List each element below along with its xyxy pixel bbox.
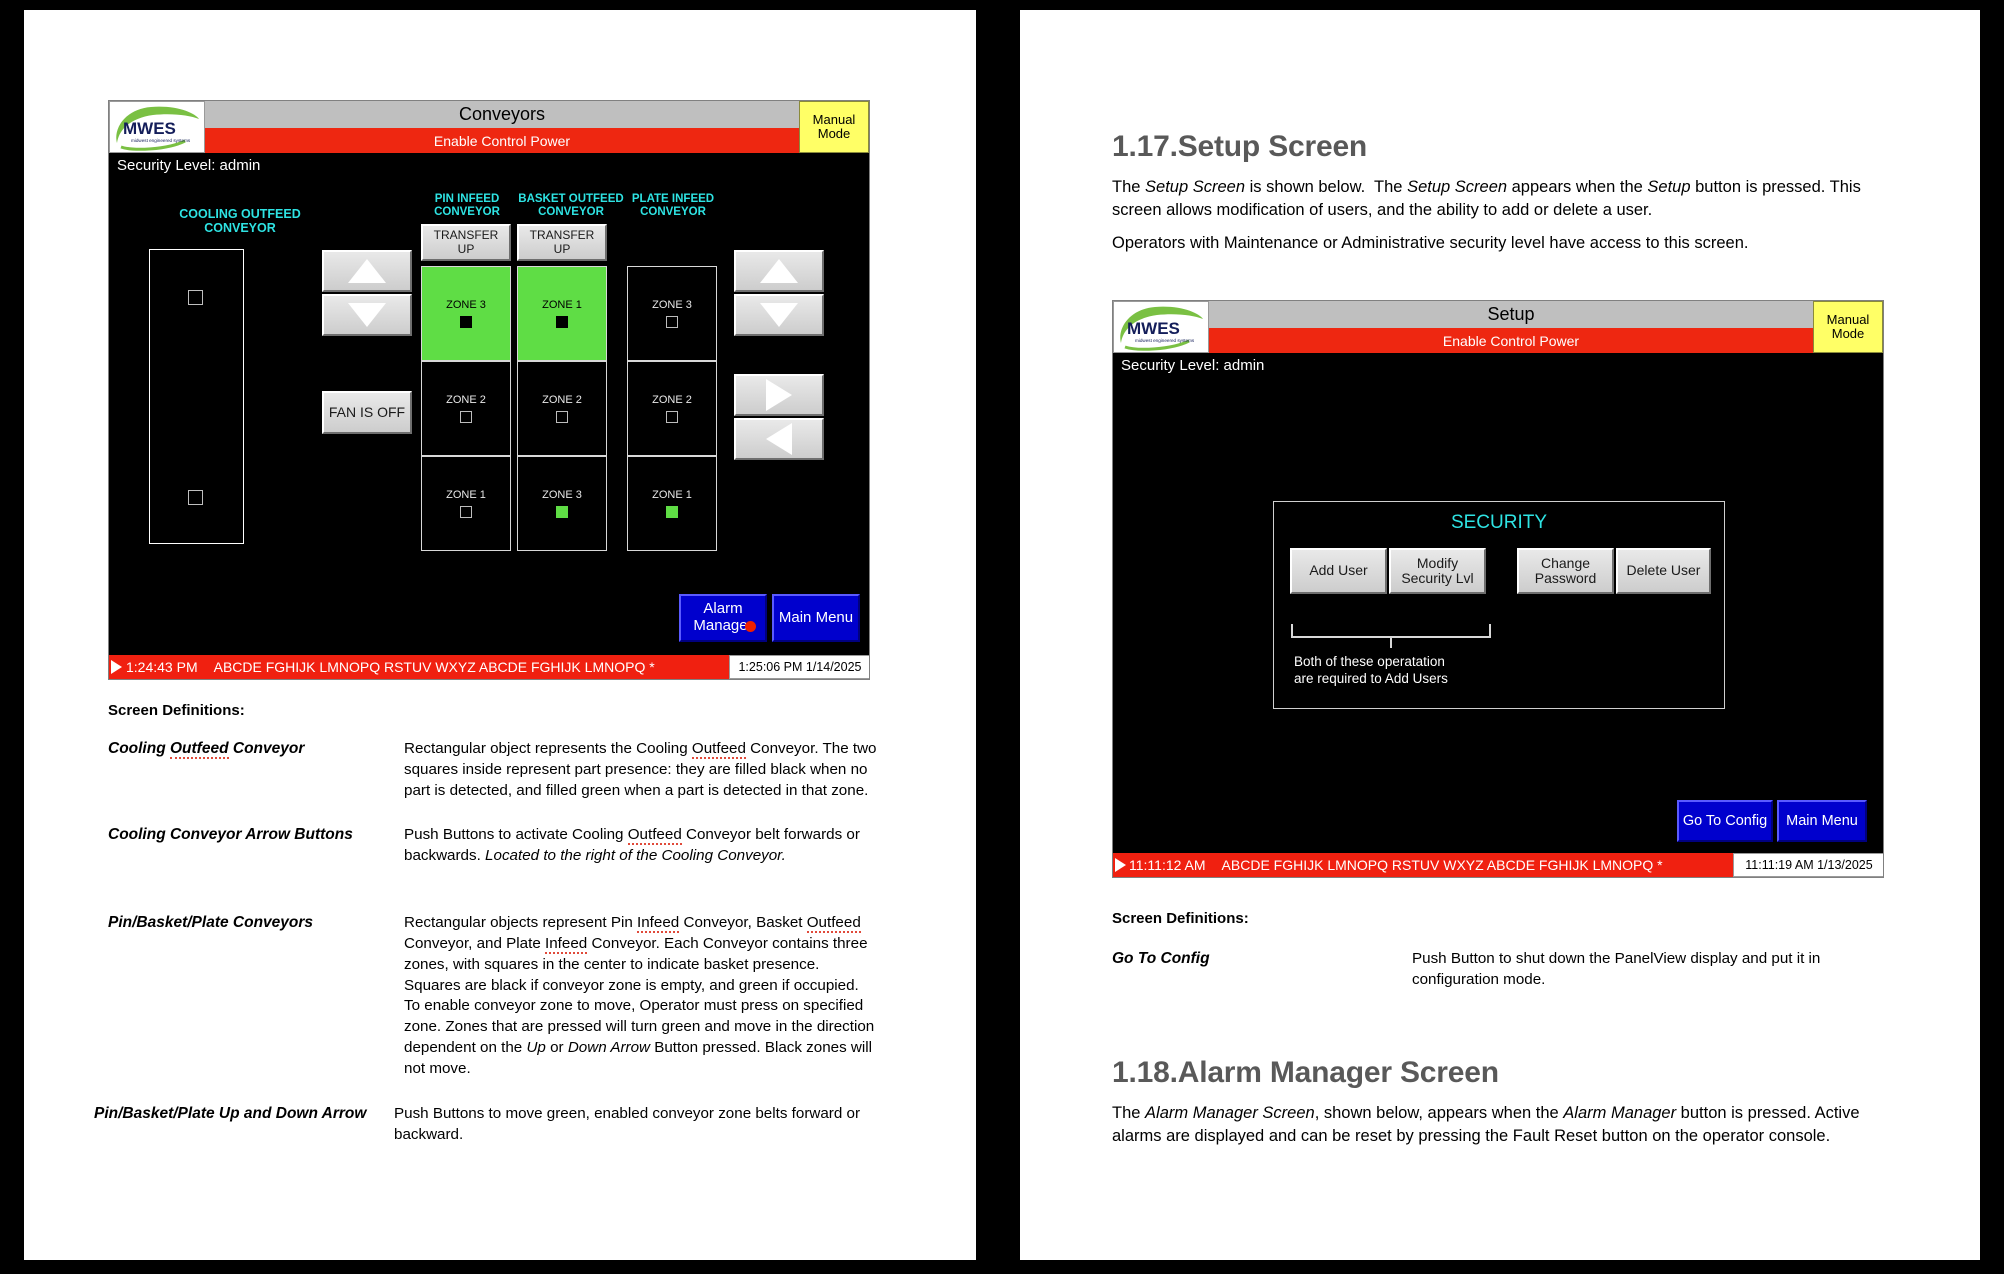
pin-infeed-label-line2: CONVEYOR bbox=[413, 206, 521, 219]
basket-outfeed-label-line1: BASKET OUTFEED bbox=[511, 193, 631, 206]
cooling-conveyor-up-button[interactable] bbox=[322, 250, 412, 292]
plate-infeed-zone-middle[interactable]: ZONE 2 bbox=[627, 361, 717, 456]
plate-infeed-label-line2: CONVEYOR bbox=[617, 206, 729, 219]
svg-text:MWES: MWES bbox=[1127, 319, 1180, 338]
main-menu-button[interactable]: Main Menu bbox=[772, 594, 860, 642]
svg-text:midwest engineered systems: midwest engineered systems bbox=[1135, 338, 1195, 343]
security-group-title: SECURITY bbox=[1274, 512, 1724, 534]
main-menu-button[interactable]: Main Menu bbox=[1777, 800, 1867, 842]
arrow-right-icon bbox=[766, 379, 792, 411]
plate-conveyor-up-button[interactable] bbox=[734, 250, 824, 292]
alarm-arrow-icon bbox=[111, 660, 122, 674]
definition-row: Pin/Basket/Plate Conveyors Rectangular o… bbox=[108, 913, 878, 1080]
basket-outfeed-zone-top[interactable]: ZONE 1 bbox=[517, 266, 607, 361]
mwes-logo-icon: MWES midwest engineered systems bbox=[1115, 303, 1207, 351]
zone-presence-square bbox=[666, 411, 678, 423]
pin-infeed-zone-bottom[interactable]: ZONE 1 bbox=[421, 456, 511, 551]
mwes-logo-icon: MWES midwest engineered systems bbox=[111, 103, 203, 151]
zone-presence-square bbox=[666, 316, 678, 328]
section-117-paragraph-1: The Setup Screen is shown below. The Set… bbox=[1112, 176, 1862, 223]
definition-row: Pin/Basket/Plate Up and Down Arrow Push … bbox=[108, 1104, 878, 1146]
alarm-manager-line2: Manager bbox=[693, 618, 752, 635]
arrow-down-icon bbox=[348, 303, 386, 327]
manual-mode-line2: Mode bbox=[1832, 327, 1865, 341]
basket-transfer-line1: TRANSFER bbox=[530, 229, 595, 242]
zone-label: ZONE 1 bbox=[542, 300, 582, 311]
manual-mode-line1: Manual bbox=[1827, 313, 1870, 327]
definition-term: Cooling Conveyor Arrow Buttons bbox=[108, 825, 404, 867]
alarm-message: ABCDE FGHIJK LMNOPQ RSTUV WXYZ ABCDE FGH… bbox=[1222, 857, 1663, 873]
zone-presence-square bbox=[460, 506, 472, 518]
alarm-banner[interactable]: 11:11:12 AM ABCDE FGHIJK LMNOPQ RSTUV WX… bbox=[1113, 853, 1733, 877]
plate-conveyor-left-button[interactable] bbox=[734, 418, 824, 460]
manual-mode-indicator[interactable]: Manual Mode bbox=[799, 101, 869, 153]
definition-description: Rectangular objects represent Pin Infeed… bbox=[404, 913, 878, 1080]
brace-left-tick bbox=[1291, 624, 1293, 638]
modify-security-line2: Security Lvl bbox=[1401, 571, 1473, 586]
fan-status-button[interactable]: FAN IS OFF bbox=[322, 391, 412, 434]
hmi-header: MWES midwest engineered systems Setup En… bbox=[1113, 301, 1883, 353]
cooling-label-line2: CONVEYOR bbox=[145, 221, 335, 235]
alarm-status-dot-icon bbox=[745, 621, 756, 632]
pin-transfer-line2: UP bbox=[458, 243, 475, 256]
zone-label: ZONE 3 bbox=[542, 490, 582, 501]
definition-description: Rectangular object represents the Coolin… bbox=[404, 739, 878, 801]
plate-conveyor-right-button[interactable] bbox=[734, 374, 824, 416]
change-password-line2: Password bbox=[1535, 571, 1596, 586]
zone-presence-square bbox=[666, 506, 678, 518]
alarm-manager-line1: Alarm bbox=[703, 601, 742, 618]
page-left: MWES midwest engineered systems Conveyor… bbox=[24, 10, 976, 1260]
cooling-outfeed-conveyor[interactable] bbox=[149, 249, 244, 544]
pin-infeed-transfer-up-button[interactable]: TRANSFER UP bbox=[421, 224, 511, 261]
security-note: Both of these operatation are required t… bbox=[1294, 654, 1448, 688]
zone-presence-square bbox=[556, 411, 568, 423]
hmi-title-stack: Setup Enable Control Power bbox=[1209, 301, 1813, 353]
pin-infeed-zone-middle[interactable]: ZONE 2 bbox=[421, 361, 511, 456]
manual-mode-indicator[interactable]: Manual Mode bbox=[1813, 301, 1883, 353]
brace-center-tick bbox=[1390, 637, 1392, 648]
definition-term: Go To Config bbox=[1112, 949, 1412, 991]
hmi-screen-title: Setup bbox=[1209, 301, 1813, 328]
basket-outfeed-zone-middle[interactable]: ZONE 2 bbox=[517, 361, 607, 456]
cooling-part-square-top bbox=[188, 290, 203, 305]
cooling-part-square-bottom bbox=[188, 490, 203, 505]
definition-row: Go To Config Push Button to shut down th… bbox=[1112, 949, 1872, 991]
delete-user-label: Delete User bbox=[1627, 563, 1701, 578]
basket-transfer-line2: UP bbox=[554, 243, 571, 256]
hmi-clock: 1:25:06 PM 1/14/2025 bbox=[729, 655, 870, 679]
security-note-line1: Both of these operatation bbox=[1294, 654, 1448, 671]
zone-label: ZONE 3 bbox=[446, 300, 486, 311]
go-to-config-button[interactable]: Go To Config bbox=[1677, 800, 1773, 842]
arrow-down-icon bbox=[760, 303, 798, 327]
hmi-clock: 11:11:19 AM 1/13/2025 bbox=[1733, 853, 1884, 877]
conveyors-hmi-screenshot: MWES midwest engineered systems Conveyor… bbox=[108, 100, 870, 680]
plate-infeed-conveyor-label: PLATE INFEED CONVEYOR bbox=[617, 193, 729, 219]
zone-label: ZONE 2 bbox=[542, 395, 582, 406]
manual-mode-line2: Mode bbox=[818, 127, 851, 141]
zone-label: ZONE 1 bbox=[652, 490, 692, 501]
hmi-header: MWES midwest engineered systems Conveyor… bbox=[109, 101, 869, 153]
alarm-time: 11:11:12 AM bbox=[1129, 857, 1206, 873]
plate-infeed-label-line1: PLATE INFEED bbox=[617, 193, 729, 206]
screen-definitions-title: Screen Definitions: bbox=[1112, 910, 1872, 927]
modify-security-line1: Modify bbox=[1417, 556, 1458, 571]
add-user-button[interactable]: Add User bbox=[1290, 548, 1387, 594]
alarm-time: 1:24:43 PM bbox=[126, 659, 198, 675]
zone-presence-square bbox=[556, 316, 568, 328]
alarm-manager-button[interactable]: Alarm Manager bbox=[679, 594, 767, 642]
hmi-screen-title: Conveyors bbox=[205, 101, 799, 128]
zone-label: ZONE 2 bbox=[446, 395, 486, 406]
plate-infeed-zone-bottom[interactable]: ZONE 1 bbox=[627, 456, 717, 551]
zone-presence-square bbox=[460, 316, 472, 328]
cooling-outfeed-conveyor-label: COOLING OUTFEED CONVEYOR bbox=[145, 207, 335, 235]
security-group-box: SECURITY Add User Modify Security Lvl Ch… bbox=[1273, 501, 1725, 709]
definition-row: Cooling Conveyor Arrow Buttons Push Butt… bbox=[108, 825, 878, 867]
zone-label: ZONE 3 bbox=[652, 300, 692, 311]
brace-right-tick bbox=[1489, 624, 1491, 638]
arrow-up-icon bbox=[348, 259, 386, 283]
definition-row: Cooling Outfeed Conveyor Rectangular obj… bbox=[108, 739, 878, 801]
definition-term: Pin/Basket/Plate Up and Down Arrow bbox=[94, 1104, 394, 1146]
hmi-title-stack: Conveyors Enable Control Power bbox=[205, 101, 799, 153]
definition-description: Push Button to shut down the PanelView d… bbox=[1412, 949, 1872, 991]
document-spread: MWES midwest engineered systems Conveyor… bbox=[0, 0, 2004, 1274]
plate-conveyor-down-button[interactable] bbox=[734, 294, 824, 336]
basket-outfeed-conveyor-label: BASKET OUTFEED CONVEYOR bbox=[511, 193, 631, 219]
pin-infeed-conveyor-label: PIN INFEED CONVEYOR bbox=[413, 193, 521, 219]
section-118-heading: 1.18.Alarm Manager Screen bbox=[1112, 1056, 1499, 1090]
modify-security-level-button[interactable]: Modify Security Lvl bbox=[1389, 548, 1486, 594]
svg-text:midwest engineered systems: midwest engineered systems bbox=[131, 138, 191, 143]
screen-definitions-title: Screen Definitions: bbox=[108, 702, 878, 719]
security-note-line2: are required to Add Users bbox=[1294, 671, 1448, 688]
pin-infeed-label-line1: PIN INFEED bbox=[413, 193, 521, 206]
plate-infeed-zone-top[interactable]: ZONE 3 bbox=[627, 266, 717, 361]
definition-term: Pin/Basket/Plate Conveyors bbox=[108, 913, 404, 1080]
section-118-paragraph-1: The Alarm Manager Screen, shown below, a… bbox=[1112, 1102, 1872, 1149]
delete-user-button[interactable]: Delete User bbox=[1616, 548, 1711, 594]
right-definitions-block: Screen Definitions: Go To Config Push Bu… bbox=[1112, 910, 1872, 991]
definition-description: Push Buttons to move green, enabled conv… bbox=[394, 1104, 878, 1146]
alarm-banner[interactable]: 1:24:43 PM ABCDE FGHIJK LMNOPQ RSTUV WXY… bbox=[109, 655, 729, 679]
security-level-text: Security Level: admin bbox=[117, 157, 260, 174]
basket-outfeed-transfer-up-button[interactable]: TRANSFER UP bbox=[517, 224, 607, 261]
mwes-logo: MWES midwest engineered systems bbox=[109, 101, 205, 153]
grouping-brace bbox=[1291, 622, 1491, 644]
mwes-logo: MWES midwest engineered systems bbox=[1113, 301, 1209, 353]
enable-control-power-banner[interactable]: Enable Control Power bbox=[205, 128, 799, 153]
cooling-conveyor-down-button[interactable] bbox=[322, 294, 412, 336]
add-user-label: Add User bbox=[1309, 563, 1367, 578]
arrow-up-icon bbox=[760, 259, 798, 283]
zone-label: ZONE 2 bbox=[652, 395, 692, 406]
change-password-line1: Change bbox=[1541, 556, 1590, 571]
pin-transfer-line1: TRANSFER bbox=[434, 229, 499, 242]
basket-outfeed-zone-bottom[interactable]: ZONE 3 bbox=[517, 456, 607, 551]
pin-infeed-zone-top[interactable]: ZONE 3 bbox=[421, 266, 511, 361]
arrow-left-icon bbox=[766, 423, 792, 455]
manual-mode-line1: Manual bbox=[813, 113, 856, 127]
section-117-paragraph-2: Operators with Maintenance or Administra… bbox=[1112, 232, 1862, 255]
zone-presence-square bbox=[460, 411, 472, 423]
definition-description: Push Buttons to activate Cooling Outfeed… bbox=[404, 825, 878, 867]
setup-hmi-screenshot: MWES midwest engineered systems Setup En… bbox=[1112, 300, 1884, 878]
zone-presence-square bbox=[556, 506, 568, 518]
definition-term: Cooling Outfeed Conveyor bbox=[108, 739, 404, 801]
left-definitions-block: Screen Definitions: Cooling Outfeed Conv… bbox=[108, 702, 878, 1145]
alarm-message: ABCDE FGHIJK LMNOPQ RSTUV WXYZ ABCDE FGH… bbox=[214, 659, 655, 675]
zone-label: ZONE 1 bbox=[446, 490, 486, 501]
svg-text:MWES: MWES bbox=[123, 119, 176, 138]
enable-control-power-banner[interactable]: Enable Control Power bbox=[1209, 328, 1813, 353]
basket-outfeed-label-line2: CONVEYOR bbox=[511, 206, 631, 219]
security-level-text: Security Level: admin bbox=[1121, 357, 1264, 374]
change-password-button[interactable]: Change Password bbox=[1517, 548, 1614, 594]
section-117-heading: 1.17.Setup Screen bbox=[1112, 130, 1367, 164]
alarm-arrow-icon bbox=[1115, 858, 1126, 872]
page-right: 1.17.Setup Screen The Setup Screen is sh… bbox=[1020, 10, 1980, 1260]
cooling-label-line1: COOLING OUTFEED bbox=[145, 207, 335, 221]
